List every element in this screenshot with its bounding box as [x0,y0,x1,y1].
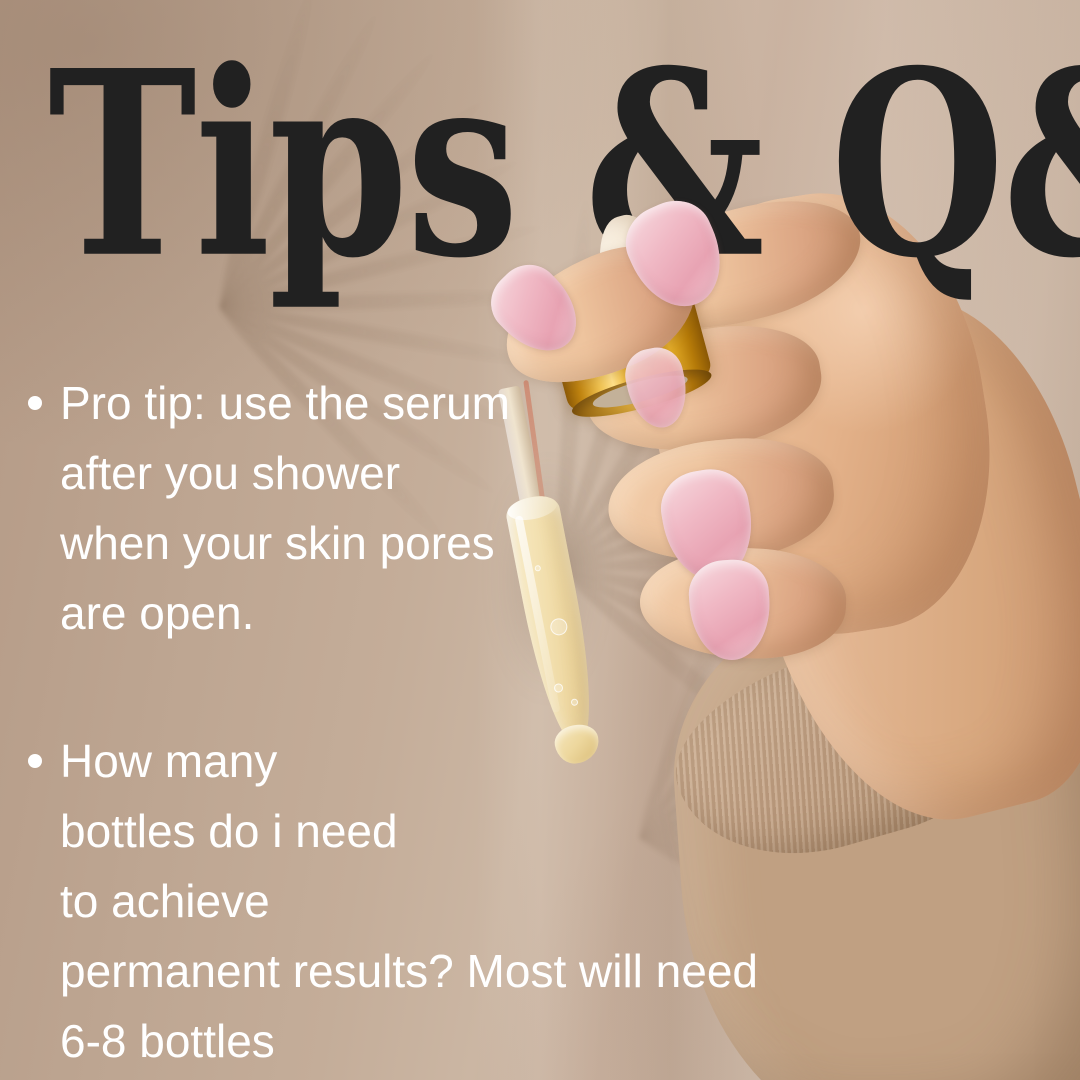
bullet-dot-icon [28,754,42,768]
bullet-line: bottles do i need [60,796,918,866]
bullet-text-2: How many bottles do i need to achieve pe… [60,726,918,1076]
bullet-dot-icon [28,396,42,410]
bullet-text-1: Pro tip: use the serum after you shower … [60,368,918,648]
bullet-line: after you shower [60,438,918,508]
poster-canvas: Tips & Q&A Pro tip: use the serum after … [0,0,1080,1080]
bullet-line: are open. [60,578,918,648]
bullet-list: Pro tip: use the serum after you shower … [18,368,918,1076]
list-item: Pro tip: use the serum after you shower … [18,368,918,648]
bullet-line: when your skin pores [60,508,918,578]
bullet-line: to achieve [60,866,918,936]
bullet-line: permanent results? Most will need [60,936,918,1006]
page-title: Tips & Q&A [48,38,1078,293]
bullet-line: Pro tip: use the serum [60,368,918,438]
list-item: How many bottles do i need to achieve pe… [18,726,918,1076]
bullet-line: How many [60,726,918,796]
bullet-line: 6-8 bottles [60,1006,918,1076]
